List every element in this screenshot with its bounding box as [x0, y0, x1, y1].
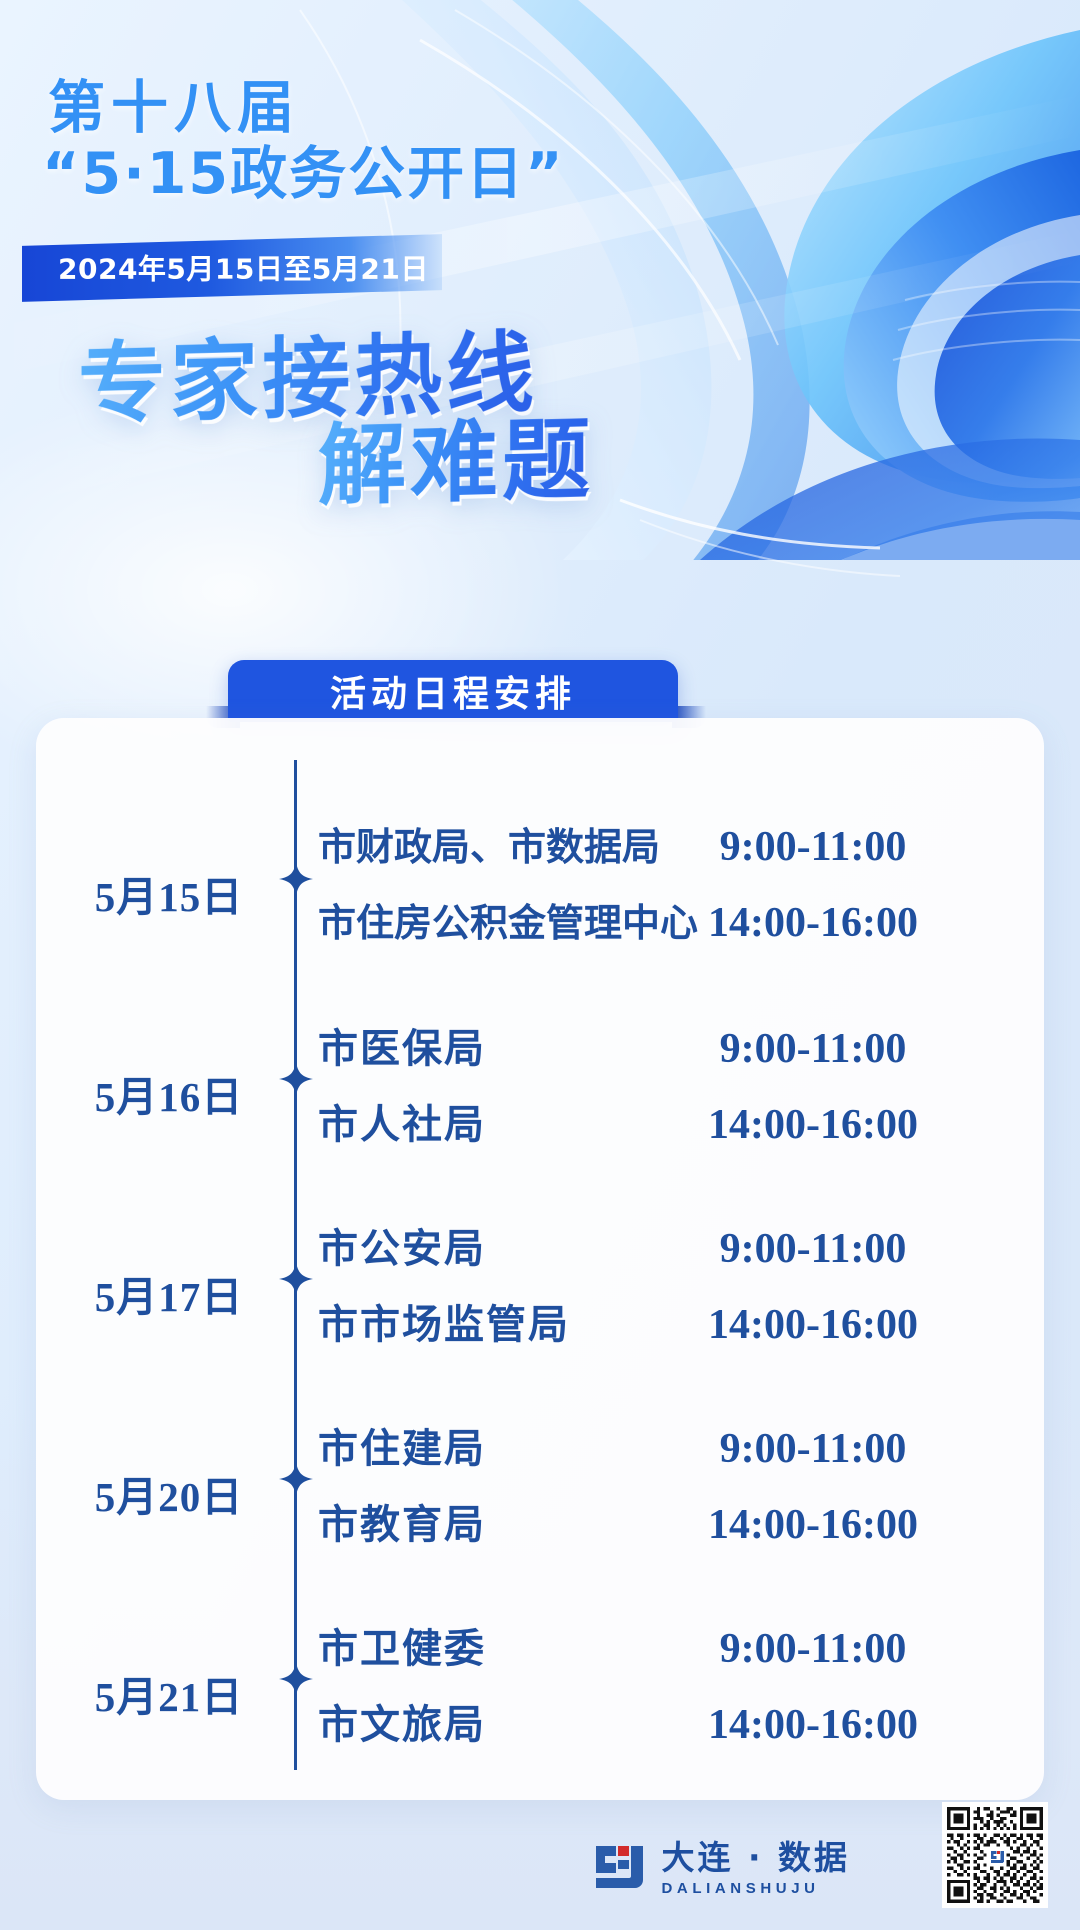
schedule-item-time: 9:00-11:00 [648, 1625, 978, 1673]
schedule-item-org: 市住建局 [318, 1416, 648, 1474]
schedule-row-date: 5月15日 [54, 863, 284, 923]
schedule-item: 市教育局14:00-16:00 [318, 1492, 1018, 1568]
schedule-row-date: 5月21日 [54, 1663, 284, 1723]
schedule-item: 市卫健委9:00-11:00 [318, 1616, 1018, 1692]
title-line-2: “5·15政务公开日” [42, 128, 565, 210]
schedule-item-org: 市财政局、市数据局 [318, 816, 648, 871]
brand-logo: 大连 · 数据 DALIANSHUJU [593, 1841, 850, 1896]
schedule-row: 5月21日市卫健委9:00-11:00市文旅局14:00-16:00 [36, 1580, 1044, 1780]
schedule-row-date: 5月17日 [54, 1263, 284, 1323]
schedule-row-items: 市财政局、市数据局9:00-11:00市住房公积金管理中心14:00-16:00 [318, 816, 1018, 968]
schedule-row-date: 5月20日 [54, 1463, 284, 1523]
schedule-rows: 5月15日市财政局、市数据局9:00-11:00市住房公积金管理中心14:00-… [36, 718, 1044, 1800]
schedule-row-items: 市卫健委9:00-11:00市文旅局14:00-16:00 [318, 1616, 1018, 1768]
headline-line-2: 解难题 [318, 388, 594, 522]
schedule-item: 市医保局9:00-11:00 [318, 1016, 1018, 1092]
schedule-row-date: 5月16日 [54, 1063, 284, 1123]
schedule-row: 5月15日市财政局、市数据局9:00-11:00市住房公积金管理中心14:00-… [36, 780, 1044, 980]
schedule-item: 市财政局、市数据局9:00-11:00 [318, 816, 1018, 892]
timeline-star-icon [279, 862, 313, 896]
timeline-star-icon [279, 1062, 313, 1096]
schedule-item: 市住建局9:00-11:00 [318, 1416, 1018, 1492]
schedule-item-time: 14:00-16:00 [648, 1701, 978, 1749]
schedule-item: 市市场监管局14:00-16:00 [318, 1292, 1018, 1368]
schedule-item-time: 14:00-16:00 [648, 899, 978, 947]
timeline-star-icon [279, 1462, 313, 1496]
schedule-item-time: 14:00-16:00 [648, 1501, 978, 1549]
schedule-item-org: 市教育局 [318, 1492, 648, 1550]
schedule-item-org: 市医保局 [318, 1016, 648, 1074]
schedule-item-time: 9:00-11:00 [648, 1025, 978, 1073]
schedule-item-time: 9:00-11:00 [648, 1225, 978, 1273]
brand-name-en: DALIANSHUJU [661, 1881, 850, 1896]
schedule-item-org: 市文旅局 [318, 1692, 648, 1750]
schedule-item-org: 市卫健委 [318, 1616, 648, 1674]
section-banner-label: 活动日程安排 [330, 665, 576, 717]
date-badge-label: 2024年5月15日至5月21日 [58, 248, 429, 288]
schedule-item-org: 市公安局 [318, 1216, 648, 1274]
schedule-row-items: 市医保局9:00-11:00市人社局14:00-16:00 [318, 1016, 1018, 1168]
schedule-item-time: 9:00-11:00 [648, 1425, 978, 1473]
timeline-star-icon [279, 1262, 313, 1296]
schedule-item-time: 14:00-16:00 [648, 1101, 978, 1149]
timeline-star-icon [279, 1662, 313, 1696]
schedule-row-items: 市公安局9:00-11:00市市场监管局14:00-16:00 [318, 1216, 1018, 1368]
schedule-row-items: 市住建局9:00-11:00市教育局14:00-16:00 [318, 1416, 1018, 1568]
schedule-item-org: 市人社局 [318, 1092, 648, 1150]
qr-code[interactable] [942, 1802, 1048, 1908]
schedule-item: 市人社局14:00-16:00 [318, 1092, 1018, 1168]
date-badge: 2024年5月15日至5月21日 [22, 234, 442, 302]
poster-footer: 大连 · 数据 DALIANSHUJU [0, 1800, 1080, 1930]
section-banner: 活动日程安排 [228, 660, 678, 722]
schedule-row: 5月17日市公安局9:00-11:00市市场监管局14:00-16:00 [36, 1180, 1044, 1380]
schedule-item-time: 14:00-16:00 [648, 1301, 978, 1349]
dalian-logo-icon [593, 1842, 647, 1896]
schedule-row: 5月20日市住建局9:00-11:00市教育局14:00-16:00 [36, 1380, 1044, 1580]
schedule-row: 5月16日市医保局9:00-11:00市人社局14:00-16:00 [36, 980, 1044, 1180]
schedule-item: 市公安局9:00-11:00 [318, 1216, 1018, 1292]
schedule-item: 市住房公积金管理中心14:00-16:00 [318, 892, 1018, 968]
brand-name-cn: 大连 · 数据 [661, 1841, 850, 1874]
schedule-item: 市文旅局14:00-16:00 [318, 1692, 1018, 1768]
schedule-item-time: 9:00-11:00 [648, 823, 978, 871]
schedule-item-org: 市市场监管局 [318, 1292, 648, 1350]
schedule-item-org: 市住房公积金管理中心 [318, 892, 648, 947]
